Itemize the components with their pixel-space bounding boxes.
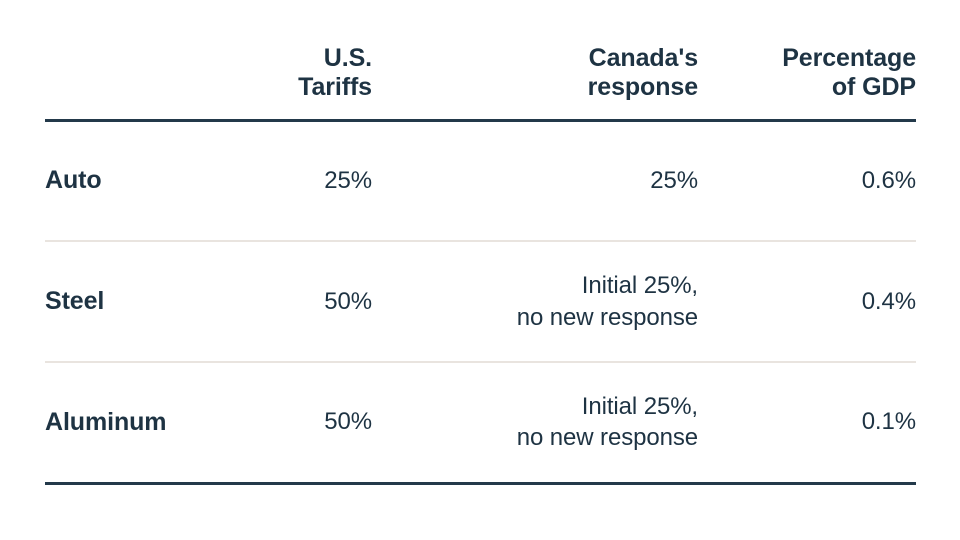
table-header-row: U.S. Tariffs Canada's response Percentag…: [45, 0, 916, 120]
cell-steel-us-tariffs: 50%: [295, 241, 372, 362]
cell-aluminum-us-tariffs: 50%: [295, 362, 372, 483]
cell-steel-canada-response-line2: no new response: [372, 302, 698, 334]
cell-auto-us-tariffs: 25%: [295, 120, 372, 241]
row-label-aluminum: Aluminum: [45, 362, 295, 483]
cell-aluminum-canada-response-line1: Initial 25%,: [372, 391, 698, 423]
cell-steel-canada-response: Initial 25%, no new response: [372, 241, 698, 362]
column-header-percentage-of-gdp-line2: of GDP: [698, 73, 916, 103]
cell-auto-canada-response: 25%: [372, 120, 698, 241]
cell-aluminum-canada-response: Initial 25%, no new response: [372, 362, 698, 483]
column-header-category: [45, 0, 295, 120]
column-header-canada-response: Canada's response: [372, 0, 698, 120]
column-header-percentage-of-gdp: Percentage of GDP: [698, 0, 916, 120]
table-row: Aluminum 50% Initial 25%, no new respons…: [45, 362, 916, 483]
cell-auto-percentage-of-gdp: 0.6%: [698, 120, 916, 241]
cell-steel-percentage-of-gdp: 0.4%: [698, 241, 916, 362]
cell-steel-canada-response-line1: Initial 25%,: [372, 270, 698, 302]
table-body: Auto 25% 25% 0.6% Steel 50% Initial 25%,…: [45, 120, 916, 483]
column-header-us-tariffs: U.S. Tariffs: [295, 0, 372, 120]
table-row: Auto 25% 25% 0.6%: [45, 120, 916, 241]
column-header-canada-response-line2: response: [372, 73, 698, 103]
row-label-auto: Auto: [45, 120, 295, 241]
column-header-canada-response-line1: Canada's: [372, 44, 698, 74]
cell-aluminum-canada-response-line2: no new response: [372, 422, 698, 454]
page-root: U.S. Tariffs Canada's response Percentag…: [0, 0, 960, 540]
table-header: U.S. Tariffs Canada's response Percentag…: [45, 0, 916, 120]
tariff-comparison-table: U.S. Tariffs Canada's response Percentag…: [45, 0, 916, 485]
table-row: Steel 50% Initial 25%, no new response 0…: [45, 241, 916, 362]
cell-auto-canada-response-line1: 25%: [372, 165, 698, 197]
column-header-percentage-of-gdp-line1: Percentage: [698, 44, 916, 74]
cell-aluminum-percentage-of-gdp: 0.1%: [698, 362, 916, 483]
row-label-steel: Steel: [45, 241, 295, 362]
